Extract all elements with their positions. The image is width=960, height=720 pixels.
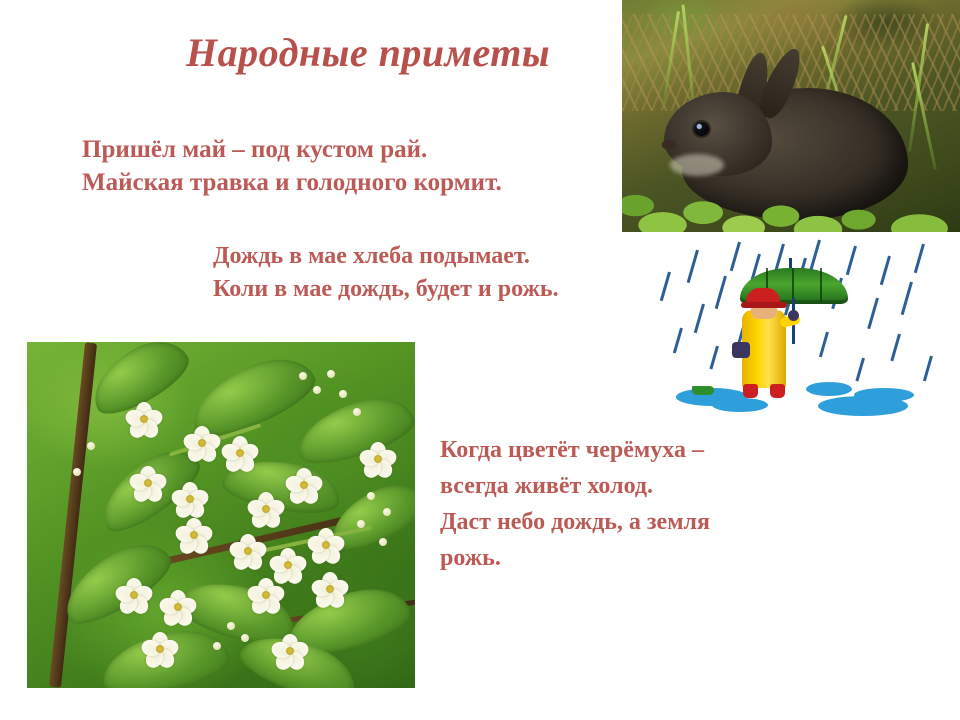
rain-drop	[855, 358, 864, 382]
proverb-line: Майская травка и голодного кормит.	[82, 166, 502, 199]
rain-puddle	[712, 398, 768, 412]
cherry-blossom	[361, 442, 395, 476]
cherry-blossom	[231, 534, 265, 568]
rain-drop	[890, 334, 901, 362]
cherry-blossom	[313, 572, 347, 606]
flower-bud	[87, 442, 95, 450]
rain-drop	[687, 250, 699, 284]
page-title: Народные приметы	[186, 31, 550, 75]
rain-paper-boat	[692, 386, 714, 395]
proverb-line: Когда цветёт черёмуха –	[440, 432, 710, 468]
rain-puddle	[854, 388, 914, 402]
rain-drop	[867, 298, 879, 330]
flower-bud	[379, 538, 387, 546]
flower-bud	[73, 468, 81, 476]
cherry-blossom	[273, 634, 307, 668]
rain-drop	[673, 328, 683, 354]
person-boot	[743, 384, 758, 398]
flower-bud	[313, 386, 321, 394]
hare-photo	[622, 0, 960, 232]
proverb-line: Дождь в мае хлеба подымает.	[213, 240, 559, 273]
person-boot	[770, 384, 785, 398]
rain-puddle	[806, 382, 852, 396]
rain-drop	[914, 244, 925, 274]
cherry-blossom	[249, 492, 283, 526]
flower-bud	[339, 390, 347, 398]
cherry-blossom	[223, 436, 257, 470]
rain-drop	[846, 246, 857, 276]
proverb-spring: Пришёл май – под кустом рай. Майская тра…	[82, 133, 502, 199]
flower-bud	[241, 634, 249, 642]
flower-bud	[299, 372, 307, 380]
person-bag	[732, 342, 750, 358]
proverb-cherry: Когда цветёт черёмуха – всегда живёт хол…	[440, 432, 710, 576]
cherry-blossom	[161, 590, 195, 624]
presentation-slide: Народные приметы Пришёл май – под кустом…	[0, 0, 960, 720]
cherry-photo	[27, 342, 415, 688]
flower-bud	[367, 492, 375, 500]
cherry-blossom	[143, 632, 177, 666]
cherry-blossom	[127, 402, 161, 436]
person-hat-brim	[741, 302, 787, 308]
cherry-blossom	[185, 426, 219, 460]
flower-bud	[213, 642, 221, 650]
proverb-line: рожь.	[440, 540, 710, 576]
flower-bud	[227, 622, 235, 630]
hare-eye	[694, 122, 709, 136]
hare-photo-foreground-leaves	[622, 144, 960, 232]
rain-drop	[819, 332, 829, 358]
cherry-blossom	[117, 578, 151, 612]
cherry-blossom	[177, 518, 211, 552]
umbrella-rib	[820, 268, 822, 302]
cherry-blossom	[249, 578, 283, 612]
proverb-line: всегда живёт холод.	[440, 468, 710, 504]
rain-drop	[660, 272, 671, 302]
rain-drop	[715, 276, 727, 310]
rain-drop	[923, 356, 933, 382]
proverb-line: Даст небо дождь, а земля	[440, 504, 710, 540]
rain-drop	[880, 256, 891, 286]
rain-drop	[694, 304, 705, 334]
umbrella-rib	[792, 268, 794, 302]
rain-drop	[901, 282, 913, 316]
cherry-blossom	[287, 468, 321, 502]
cherry-blossom	[131, 466, 165, 500]
proverb-line: Коли в мае дождь, будет и рожь.	[213, 273, 559, 306]
flower-bud	[353, 408, 361, 416]
cherry-blossom	[309, 528, 343, 562]
rain-drop	[730, 242, 741, 272]
flower-bud	[383, 508, 391, 516]
proverb-rain: Дождь в мае хлеба подымает. Коли в мае д…	[213, 240, 559, 306]
proverb-line: Пришёл май – под кустом рай.	[82, 133, 502, 166]
flower-bud	[327, 370, 335, 378]
cherry-blossom	[173, 482, 207, 516]
flower-bud	[357, 520, 365, 528]
rain-clipart	[658, 238, 948, 420]
person-hand	[788, 310, 799, 321]
rain-drop	[709, 346, 718, 370]
cherry-blossom	[271, 548, 305, 582]
